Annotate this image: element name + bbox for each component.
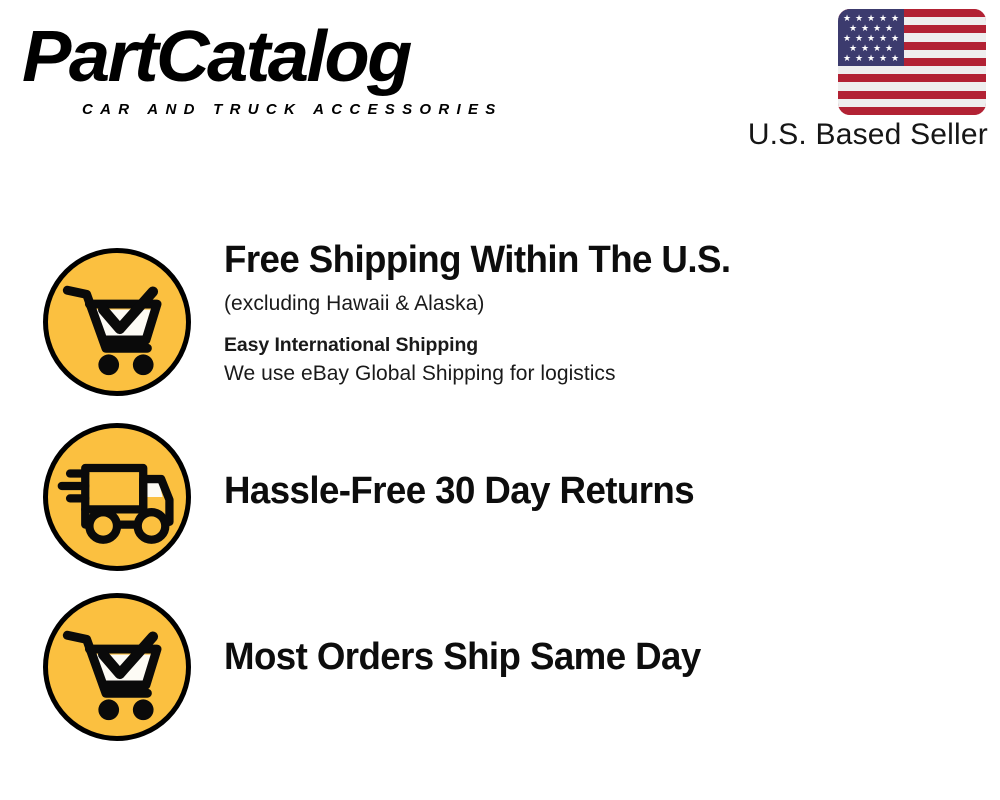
flag-star-row: ★★★★ — [838, 24, 904, 33]
cart-check-icon — [43, 248, 191, 396]
flag-stripe — [838, 91, 986, 99]
banner-header: PartCatalog CAR AND TRUCK ACCESSORIES ★★… — [0, 0, 1000, 170]
flag-star-row: ★★★★ — [838, 44, 904, 53]
flag-star-row: ★★★★★ — [838, 54, 904, 63]
feature-row: Most Orders Ship Same Day — [0, 585, 1000, 755]
feature-subtitle-strong: Easy International Shipping — [224, 332, 980, 359]
feature-row: Free Shipping Within The U.S. (excluding… — [0, 235, 1000, 410]
cart-check-icon — [43, 593, 191, 741]
brand-wordmark: PartCatalog — [22, 18, 410, 96]
feature-subtitle: (excluding Hawaii & Alaska) — [224, 290, 980, 318]
delivery-truck-icon — [43, 423, 191, 571]
flag-stripe — [838, 66, 986, 74]
brand-logo: PartCatalog CAR AND TRUCK ACCESSORIES — [22, 18, 492, 118]
feature-text: Most Orders Ship Same Day — [224, 634, 980, 680]
feature-text: Hassle-Free 30 Day Returns — [224, 468, 980, 514]
us-based-seller-caption: U.S. Based Seller — [748, 118, 988, 152]
flag-stripe — [838, 99, 986, 107]
flag-star-row: ★★★★★ — [838, 34, 904, 43]
brand-tagline: CAR AND TRUCK ACCESSORIES — [82, 101, 503, 119]
flag-stripe — [838, 107, 986, 115]
us-flag-icon: ★★★★★ ★★★★ ★★★★★ ★★★★ ★★★★★ — [838, 9, 986, 115]
feature-row: Hassle-Free 30 Day Returns — [0, 415, 1000, 585]
flag-stripe — [838, 74, 986, 82]
flag-stripe — [838, 82, 986, 90]
feature-title: Hassle-Free 30 Day Returns — [224, 468, 954, 514]
flag-canton: ★★★★★ ★★★★ ★★★★★ ★★★★ ★★★★★ — [838, 9, 904, 66]
flag-star-row: ★★★★★ — [838, 14, 904, 23]
feature-subtitle: We use eBay Global Shipping for logistic… — [224, 360, 980, 388]
feature-title: Free Shipping Within The U.S. — [224, 237, 954, 283]
feature-title: Most Orders Ship Same Day — [224, 634, 954, 680]
feature-text: Free Shipping Within The U.S. (excluding… — [224, 237, 980, 388]
